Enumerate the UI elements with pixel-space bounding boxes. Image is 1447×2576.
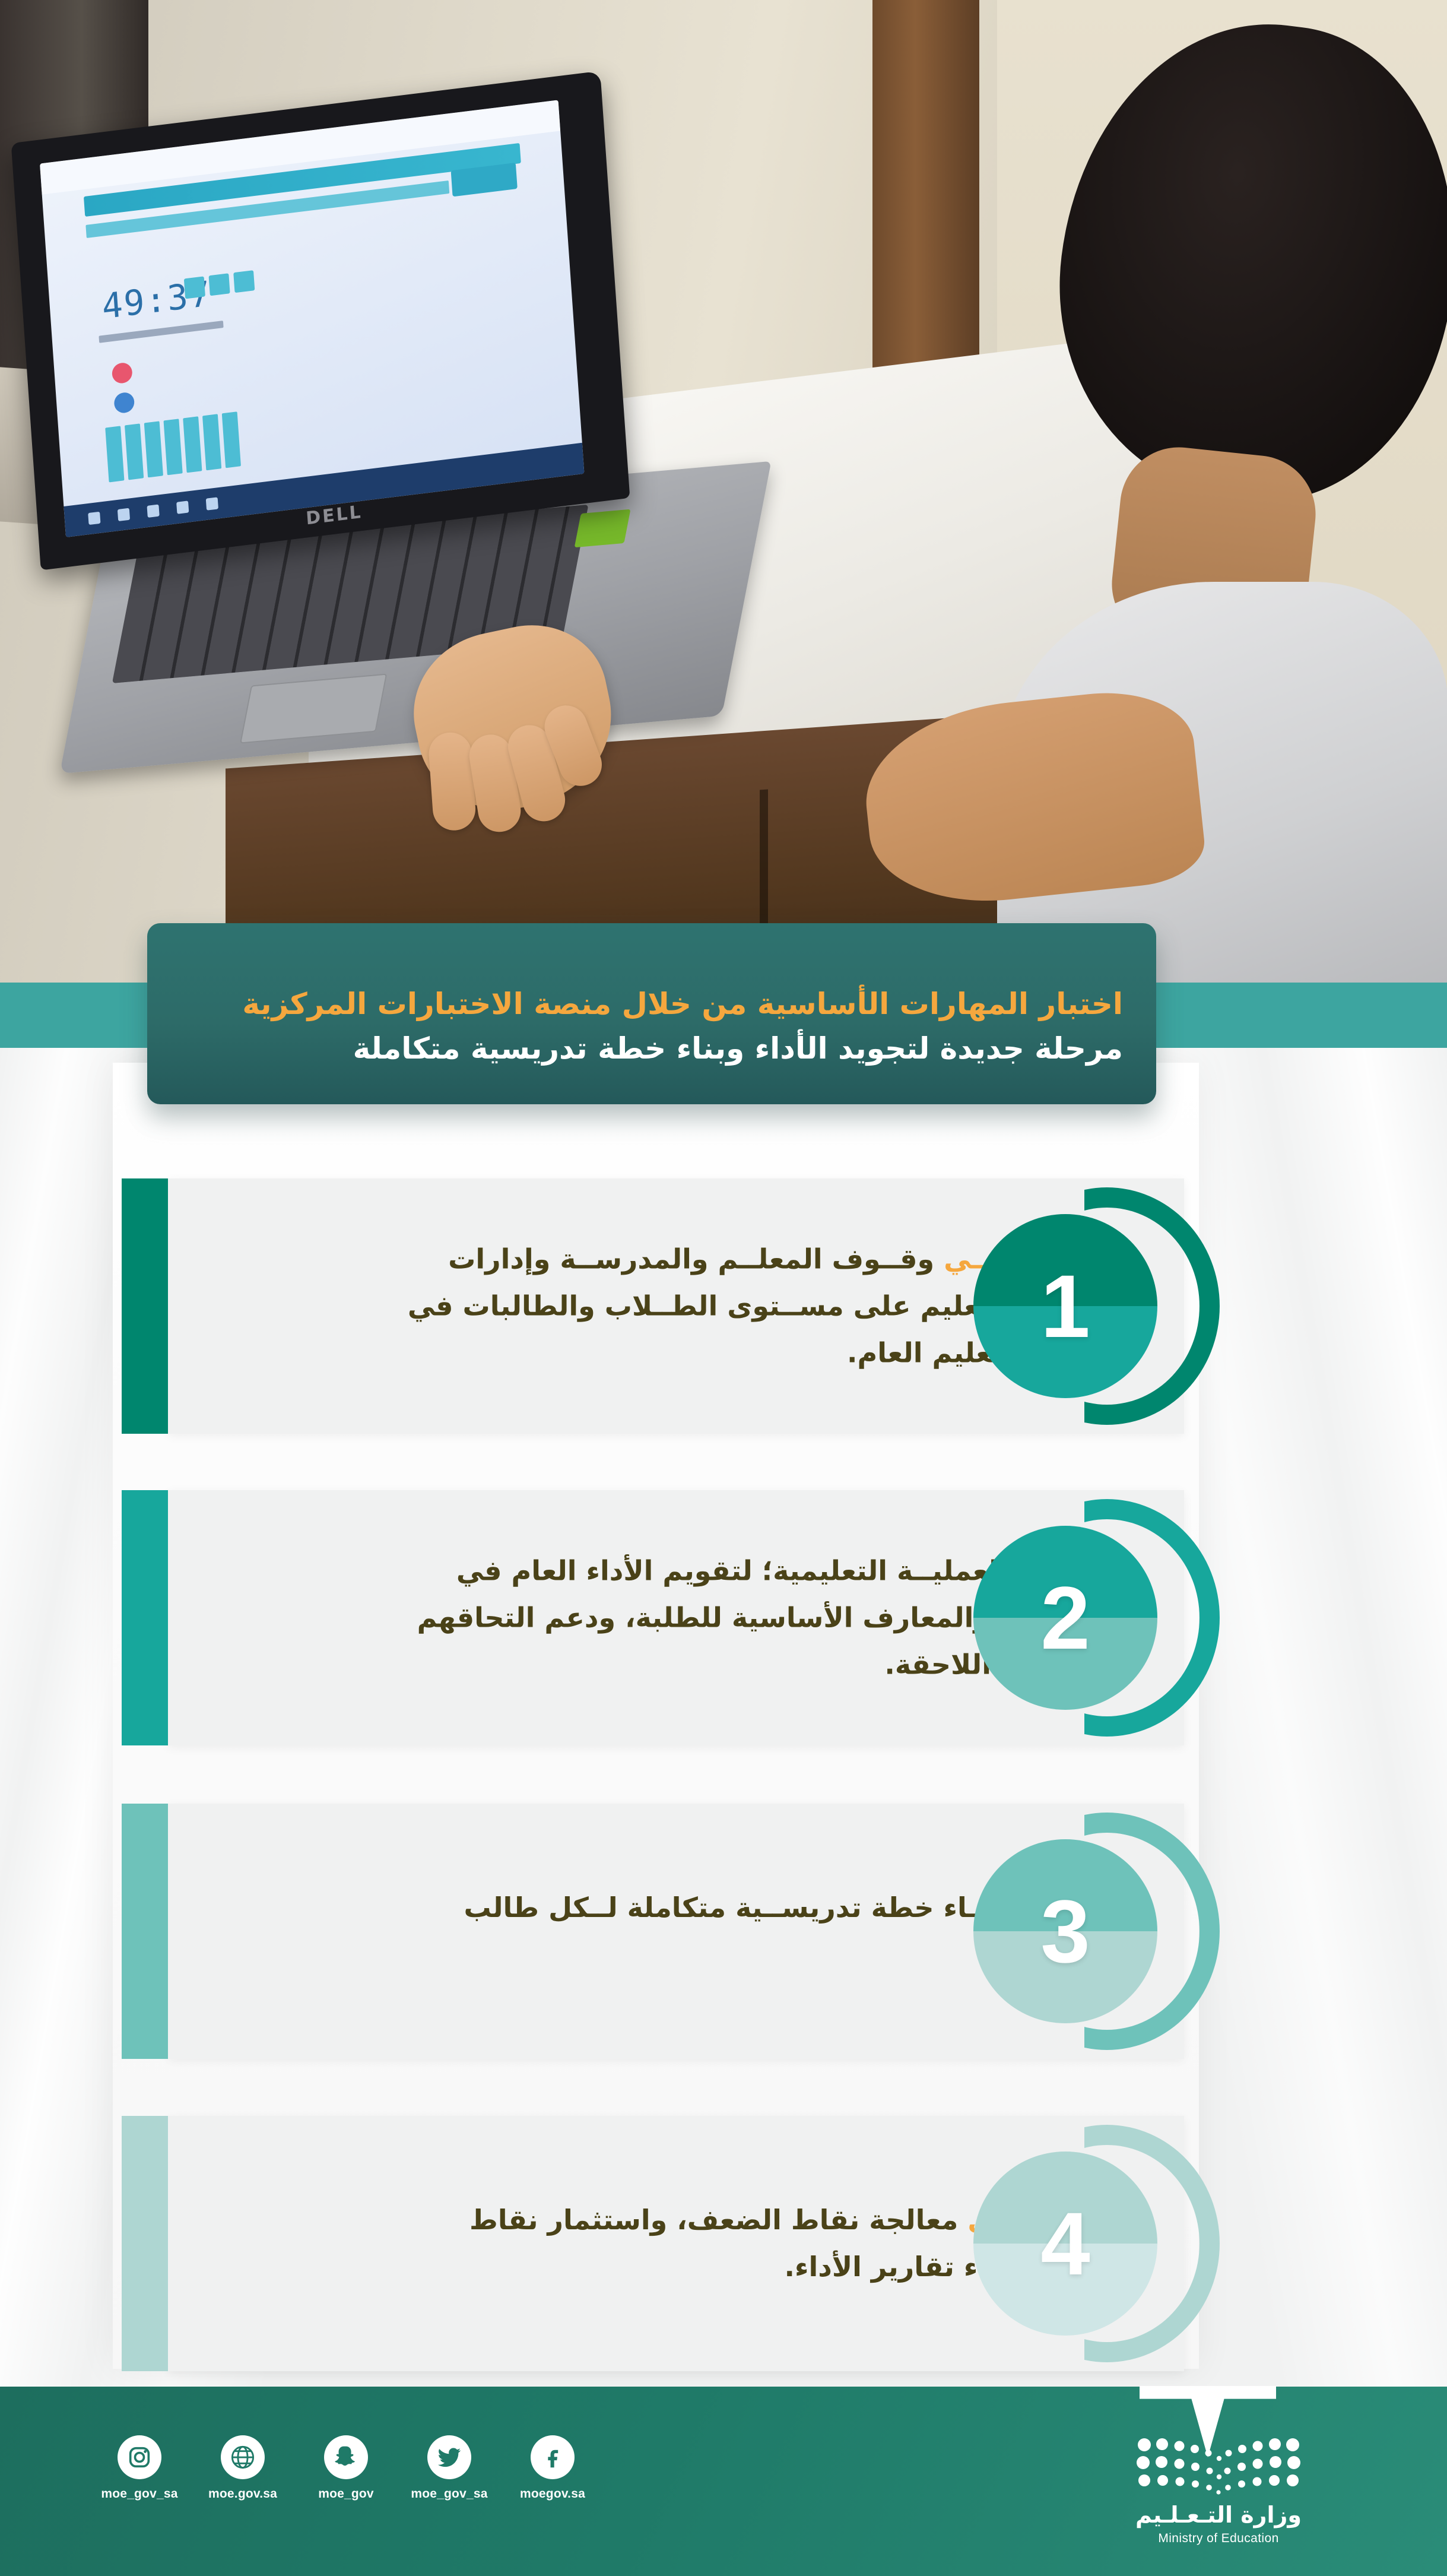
card-accent-bar — [122, 1490, 168, 1745]
card-text: تُســهم في معالجة نقاط الضعف، واستثمار ن… — [389, 2197, 1119, 2290]
info-card: تســاعد فــي وقــوف المعلــم والمدرســة … — [122, 1178, 1184, 1434]
card-text-highlight: تســاعد فــي — [944, 1243, 1119, 1275]
card-accent-bar — [122, 1178, 168, 1434]
info-card: جزء من العمليــة التعليمية؛ لتقويم الأدا… — [122, 1490, 1184, 1745]
card-accent-bar — [122, 1804, 168, 2059]
social-link[interactable]: moe_gov_sa — [414, 2435, 485, 2501]
info-card: جزء من بنــاء خطة تدريســية متكاملة لــك… — [122, 1804, 1184, 2059]
twitter-icon[interactable] — [427, 2435, 471, 2479]
card-text-rest: العمليــة التعليمية؛ لتقويم الأداء العام… — [417, 1554, 1119, 1680]
instagram-icon[interactable] — [118, 2435, 161, 2479]
info-card: تُســهم في معالجة نقاط الضعف، واستثمار ن… — [122, 2116, 1184, 2371]
ministry-name-arabic: وزارة التـعـلـيم — [1135, 2502, 1302, 2528]
facebook-icon[interactable] — [531, 2435, 575, 2479]
social-handle: moe.gov.sa — [208, 2487, 277, 2501]
social-link[interactable]: moe_gov_sa — [104, 2435, 175, 2501]
snapchat-icon[interactable] — [324, 2435, 368, 2479]
card-text-highlight: جزء من — [1017, 1891, 1119, 1924]
card-text: جزء من العمليــة التعليمية؛ لتقويم الأدا… — [389, 1547, 1119, 1688]
social-handle: moe_gov_sa — [101, 2487, 177, 2501]
ministry-name-english: Ministry of Education — [1158, 2531, 1278, 2546]
social-links: moegov.samoe_gov_samoe_govmoe.gov.samoe_… — [104, 2435, 588, 2501]
social-handle: moegov.sa — [520, 2487, 585, 2501]
social-handle: moe_gov_sa — [411, 2487, 487, 2501]
social-handle: moe_gov — [318, 2487, 374, 2501]
card-text: تســاعد فــي وقــوف المعلــم والمدرســة … — [389, 1235, 1119, 1376]
globe-icon[interactable] — [221, 2435, 265, 2479]
card-text-highlight: تُســهم في — [967, 2204, 1119, 2236]
infographic-poster: 49:37 DELL — [0, 0, 1447, 2576]
cards-list: تســاعد فــي وقــوف المعلــم والمدرســة … — [0, 0, 1447, 2576]
social-link[interactable]: moegov.sa — [517, 2435, 588, 2501]
card-text: جزء من بنــاء خطة تدريســية متكاملة لــك… — [389, 1884, 1119, 1978]
social-link[interactable]: moe.gov.sa — [207, 2435, 278, 2501]
social-link[interactable]: moe_gov — [310, 2435, 382, 2501]
page-footer: moegov.samoe_gov_samoe_govmoe.gov.samoe_… — [0, 2387, 1447, 2576]
ministry-logo: وزارة التـعـلـيم Ministry of Education — [1091, 2428, 1346, 2546]
card-accent-bar — [122, 2116, 168, 2371]
card-text-highlight: جزء من — [1017, 1554, 1119, 1586]
saudi-palms-icon — [1121, 2428, 1316, 2498]
